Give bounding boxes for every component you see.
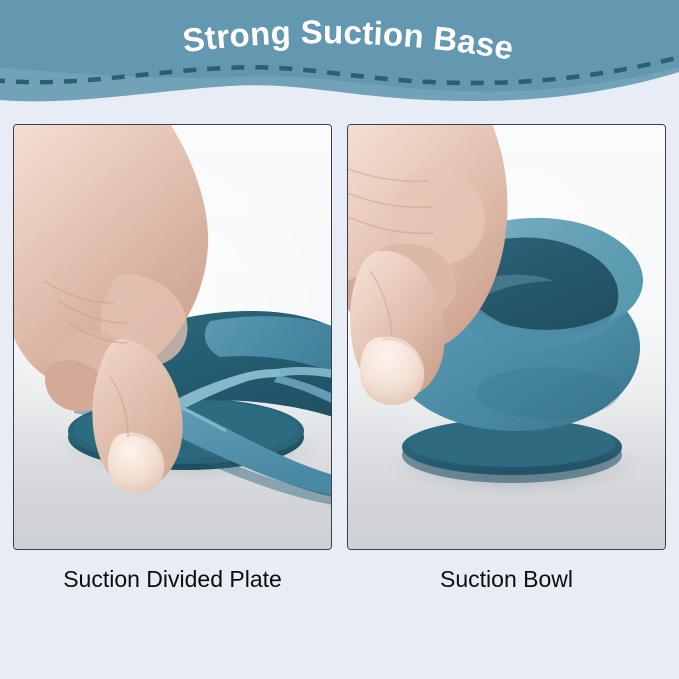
header-banner: Strong Suction Base bbox=[0, 0, 679, 120]
scene-divided-plate bbox=[14, 125, 331, 549]
scene-bowl bbox=[348, 125, 665, 549]
bowl-lower-shading bbox=[476, 367, 620, 419]
product-infographic: Strong Suction Base bbox=[0, 0, 679, 679]
panel-group bbox=[13, 124, 666, 550]
caption-group: Suction Divided Plate Suction Bowl bbox=[13, 563, 666, 603]
caption-suction-bowl: Suction Bowl bbox=[347, 563, 666, 595]
divided-plate-illustration bbox=[14, 125, 331, 549]
photo-panel-suction-bowl bbox=[347, 124, 666, 550]
banner-wave-shape bbox=[0, 0, 679, 120]
photo-panel-suction-divided-plate bbox=[13, 124, 332, 550]
suction-bowl-illustration bbox=[348, 125, 665, 549]
caption-suction-divided-plate: Suction Divided Plate bbox=[13, 563, 332, 595]
